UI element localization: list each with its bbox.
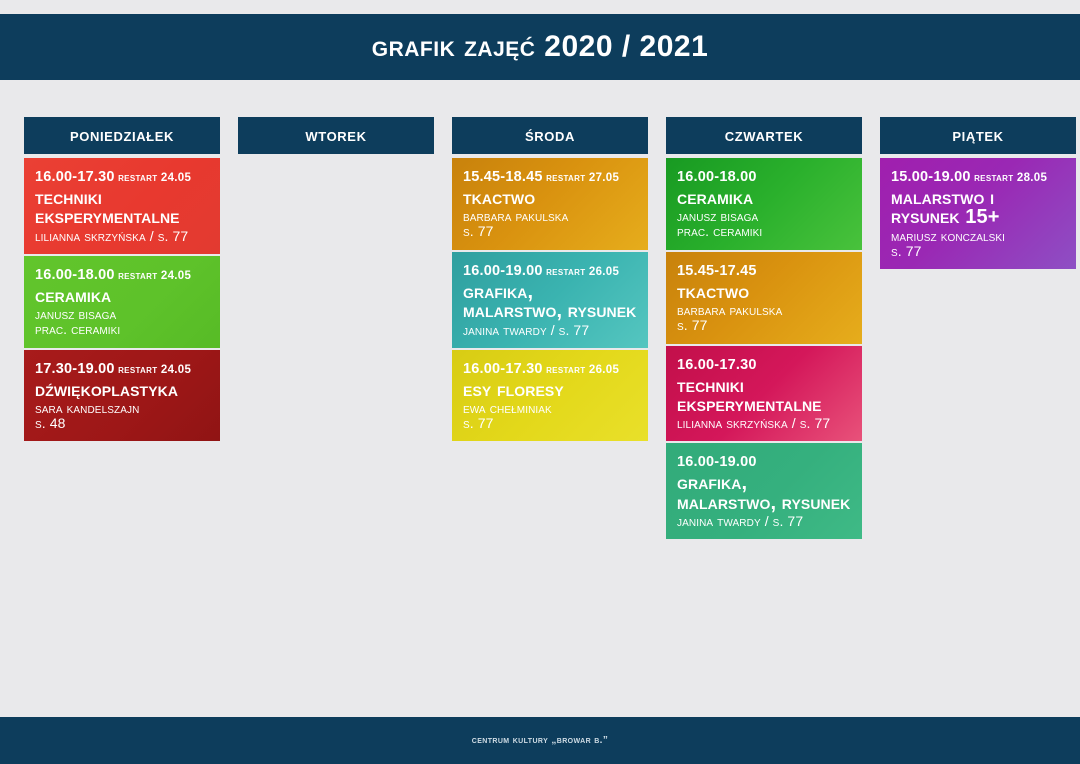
day-column-czwartek: Czwartek16.00-18.00CeramikaJanusz Bisaga… bbox=[666, 117, 862, 541]
class-teacher: Ewa Chełminiak bbox=[463, 401, 637, 416]
class-restart-note: restart 24.05 bbox=[115, 270, 192, 282]
page-header-bar: Grafik zajęć 2020 / 2021 bbox=[0, 14, 1080, 80]
class-room: prac. ceramiki bbox=[677, 224, 851, 239]
class-teacher: Sara Kandelszajn bbox=[35, 401, 209, 416]
class-room: s. 77 bbox=[677, 318, 851, 333]
page-title-words: Grafik zajęć bbox=[372, 30, 545, 63]
class-title: Tkactwo bbox=[677, 283, 851, 302]
class-card[interactable]: 15.45-18.45 restart 27.05TkactwoBarbara … bbox=[452, 158, 648, 250]
page-title-years: 2020 / 2021 bbox=[544, 30, 708, 63]
class-room: s. 77 bbox=[463, 224, 637, 239]
class-room: s. 77 bbox=[891, 244, 1065, 259]
class-time: 16.00-18.00 restart 24.05 bbox=[35, 267, 209, 283]
class-card[interactable]: 16.00-18.00CeramikaJanusz Bisagaprac. ce… bbox=[666, 158, 862, 250]
class-restart-note: restart 26.05 bbox=[543, 364, 620, 376]
class-room: s. 48 bbox=[35, 416, 209, 431]
class-teacher: Barbara Pakulska bbox=[463, 209, 637, 224]
schedule-grid: Poniedziałek16.00-17.30 restart 24.05Tec… bbox=[24, 117, 1066, 541]
class-teacher: Janina Twardy / s. 77 bbox=[677, 514, 851, 529]
class-time-range: 16.00-17.30 bbox=[677, 357, 757, 373]
class-time-range: 16.00-17.30 bbox=[463, 361, 543, 377]
class-title: Grafika, malarstwo, rysunek bbox=[677, 474, 851, 513]
class-time-range: 17.30-19.00 bbox=[35, 361, 115, 377]
day-header-wtorek: Wtorek bbox=[238, 117, 434, 154]
class-title: Malarstwo i rysunek 15+ bbox=[891, 189, 1065, 228]
class-time: 16.00-19.00 restart 26.05 bbox=[463, 263, 637, 279]
class-time: 15.45-18.45 restart 27.05 bbox=[463, 169, 637, 185]
class-restart-note: restart 28.05 bbox=[971, 172, 1048, 184]
class-teacher: Janina Twardy / s. 77 bbox=[463, 323, 637, 338]
class-title: Techniki eksperymentalne bbox=[35, 189, 209, 228]
class-restart-note: restart 24.05 bbox=[115, 364, 192, 376]
class-card[interactable]: 15.45-17.45TkactwoBarbara Pakulskas. 77 bbox=[666, 252, 862, 344]
class-teacher: Janusz Bisaga bbox=[35, 307, 209, 322]
day-header-poniedziałek: Poniedziałek bbox=[24, 117, 220, 154]
class-time-range: 15.45-17.45 bbox=[677, 263, 757, 279]
class-title: Ceramika bbox=[35, 287, 209, 306]
page-title: Grafik zajęć 2020 / 2021 bbox=[372, 30, 709, 64]
day-column-poniedziałek: Poniedziałek16.00-17.30 restart 24.05Tec… bbox=[24, 117, 220, 443]
class-time-range: 15.45-18.45 bbox=[463, 169, 543, 185]
class-title: Dźwiękoplastyka bbox=[35, 381, 209, 400]
class-title: Techniki eksperymentalne bbox=[677, 377, 851, 416]
class-time-range: 15.00-19.00 bbox=[891, 169, 971, 185]
class-time: 16.00-17.30 restart 24.05 bbox=[35, 169, 209, 185]
class-restart-note: restart 24.05 bbox=[115, 172, 192, 184]
class-teacher: Barbara Pakulska bbox=[677, 303, 851, 318]
footer-institution-name: Centrum Kultury „Browar B.” bbox=[472, 735, 609, 746]
class-teacher: Lilianna Skrzyńska / s. 77 bbox=[677, 416, 851, 431]
class-card[interactable]: 16.00-19.00Grafika, malarstwo, rysunekJa… bbox=[666, 443, 862, 539]
class-time: 15.45-17.45 bbox=[677, 263, 851, 279]
class-time-range: 16.00-17.30 bbox=[35, 169, 115, 185]
day-column-wtorek: Wtorek bbox=[238, 117, 434, 158]
class-title: Esy floresy bbox=[463, 381, 637, 400]
class-teacher: Lilianna Skrzyńska / s. 77 bbox=[35, 229, 209, 244]
page-footer-bar: Centrum Kultury „Browar B.” bbox=[0, 717, 1080, 764]
class-card[interactable]: 17.30-19.00 restart 24.05Dźwiękoplastyka… bbox=[24, 350, 220, 442]
day-header-czwartek: Czwartek bbox=[666, 117, 862, 154]
day-header-środa: Środa bbox=[452, 117, 648, 154]
class-restart-note: restart 26.05 bbox=[543, 266, 620, 278]
class-title: Tkactwo bbox=[463, 189, 637, 208]
class-time: 16.00-18.00 bbox=[677, 169, 851, 185]
class-card[interactable]: 16.00-19.00 restart 26.05Grafika, malars… bbox=[452, 252, 648, 348]
day-header-piątek: Piątek bbox=[880, 117, 1076, 154]
class-card[interactable]: 16.00-17.30Techniki eksperymentalneLilia… bbox=[666, 346, 862, 442]
class-teacher: Janusz Bisaga bbox=[677, 209, 851, 224]
class-time-range: 16.00-18.00 bbox=[35, 267, 115, 283]
class-title: Ceramika bbox=[677, 189, 851, 208]
class-time-range: 16.00-19.00 bbox=[463, 263, 543, 279]
class-time: 15.00-19.00 restart 28.05 bbox=[891, 169, 1065, 185]
class-time-range: 16.00-19.00 bbox=[677, 454, 757, 470]
class-room: s. 77 bbox=[463, 416, 637, 431]
day-column-piątek: Piątek15.00-19.00 restart 28.05Malarstwo… bbox=[880, 117, 1076, 271]
class-time: 16.00-19.00 bbox=[677, 454, 851, 470]
class-card[interactable]: 16.00-17.30 restart 24.05Techniki eksper… bbox=[24, 158, 220, 254]
class-card[interactable]: 16.00-18.00 restart 24.05CeramikaJanusz … bbox=[24, 256, 220, 348]
class-card[interactable]: 16.00-17.30 restart 26.05Esy floresyEwa … bbox=[452, 350, 648, 442]
class-teacher: Mariusz konczalski bbox=[891, 229, 1065, 244]
day-column-środa: Środa15.45-18.45 restart 27.05TkactwoBar… bbox=[452, 117, 648, 443]
class-time: 17.30-19.00 restart 24.05 bbox=[35, 361, 209, 377]
class-restart-note: restart 27.05 bbox=[543, 172, 620, 184]
class-time: 16.00-17.30 restart 26.05 bbox=[463, 361, 637, 377]
class-time: 16.00-17.30 bbox=[677, 357, 851, 373]
class-room: prac. ceramiki bbox=[35, 322, 209, 337]
class-title: Grafika, malarstwo, rysunek bbox=[463, 283, 637, 322]
class-card[interactable]: 15.00-19.00 restart 28.05Malarstwo i rys… bbox=[880, 158, 1076, 269]
class-time-range: 16.00-18.00 bbox=[677, 169, 757, 185]
